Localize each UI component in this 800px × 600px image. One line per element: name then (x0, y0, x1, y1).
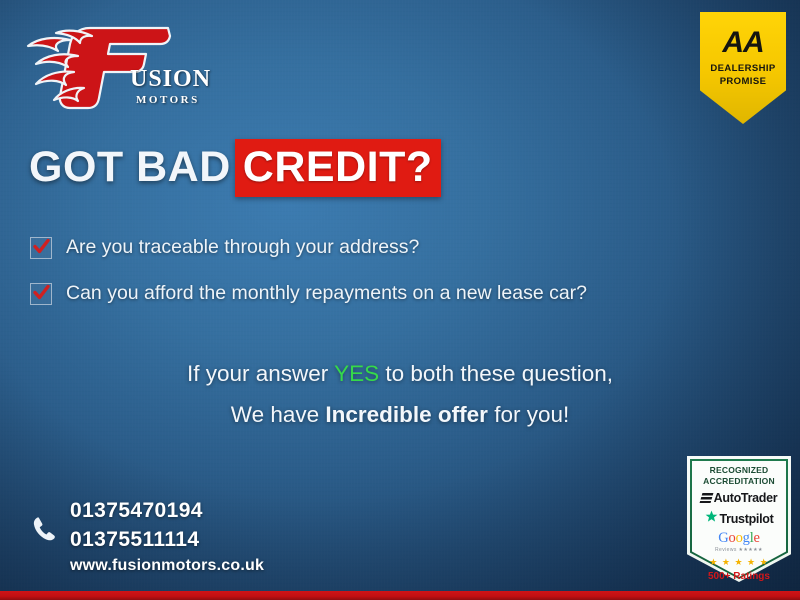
accreditation-title-line-2: ACCREDITATION (703, 476, 775, 487)
page-title: GOT BADCREDIT? (29, 146, 441, 189)
advert-poster: USION MOTORS AA DEALERSHIP PROMISE GOT B… (0, 0, 800, 600)
trustpilot-star-icon (705, 510, 720, 528)
offer-line-1-before: If your answer (187, 361, 334, 386)
google-reviews-sublabel: Reviews ★★★★★ (715, 547, 763, 553)
aa-line-2: PROMISE (720, 76, 767, 89)
google-letter-g2: g (743, 530, 750, 546)
aa-line-1: DEALERSHIP (710, 63, 775, 76)
offer-line-2-before: We have (231, 402, 326, 427)
offer-message: If your answer YES to both these questio… (0, 363, 800, 444)
offer-emphasis: Incredible offer (325, 402, 488, 427)
offer-line-2: We have Incredible offer for you! (0, 404, 800, 427)
accreditation-title-line-1: RECOGNIZED (710, 465, 769, 476)
logo-submark: MOTORS (136, 94, 200, 106)
google-logo: Google (718, 531, 760, 546)
star-rating-icons: ★ ★ ★ ★ ★ (709, 557, 768, 568)
headline-plain: GOT BAD (29, 143, 231, 191)
logo-wordmark: USION (130, 66, 211, 93)
trustpilot-label: Trustpilot (720, 512, 774, 526)
offer-line-2-after: for you! (488, 402, 569, 427)
accreditation-badge: RECOGNIZED ACCREDITATION AutoTrader Trus… (687, 456, 791, 582)
google-letter-e: e (754, 530, 760, 546)
bottom-accent-stripe (0, 591, 800, 600)
headline-highlight: CREDIT? (235, 139, 441, 197)
checked-box-icon (30, 283, 52, 305)
ratings-count: 500+ Ratings (708, 571, 770, 582)
trustpilot-logo: Trustpilot (705, 510, 774, 528)
website-url[interactable]: www.fusionmotors.co.uk (70, 558, 264, 574)
phone-icon (30, 514, 60, 549)
list-item: Can you afford the monthly repayments on… (30, 282, 680, 305)
question-checklist: Are you traceable through your address? … (30, 236, 680, 329)
offer-line-1-after: to both these question, (379, 361, 613, 386)
autotrader-mark-icon (699, 493, 713, 503)
checked-box-icon (30, 237, 52, 259)
list-item: Are you traceable through your address? (30, 236, 680, 259)
autotrader-label: AutoTrader (714, 491, 778, 505)
phone-number-secondary[interactable]: 01375511114 (70, 529, 264, 550)
google-letter-g: G (718, 530, 728, 546)
list-item-label: Can you afford the monthly repayments on… (66, 282, 587, 305)
offer-yes-word: YES (334, 361, 379, 386)
contact-block: 01375470194 01375511114 www.fusionmotors… (30, 500, 264, 574)
fusion-motors-logo: USION MOTORS (18, 10, 228, 122)
google-letter-o2: o (736, 530, 743, 546)
google-letter-o1: o (729, 530, 736, 546)
autotrader-logo: AutoTrader (701, 491, 778, 505)
list-item-label: Are you traceable through your address? (66, 236, 419, 259)
aa-dealership-promise-badge: AA DEALERSHIP PROMISE (700, 12, 786, 124)
aa-letters: AA (722, 28, 763, 58)
offer-line-1: If your answer YES to both these questio… (0, 363, 800, 386)
phone-number-primary[interactable]: 01375470194 (70, 500, 264, 521)
